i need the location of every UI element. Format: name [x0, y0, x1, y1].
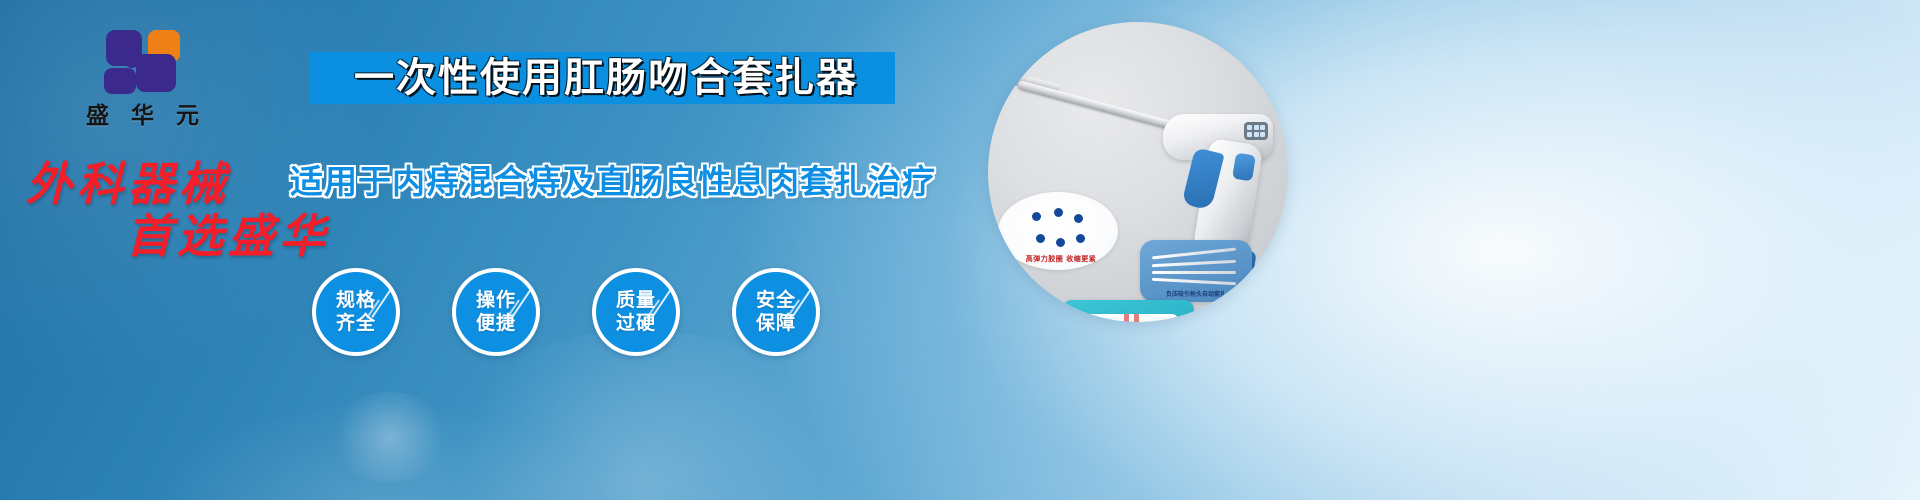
background-bubble	[330, 392, 450, 482]
feature-badge-1[interactable]: 规格 齐全	[312, 268, 400, 356]
feature-line-2: 便捷	[476, 312, 516, 335]
logo-block-3	[136, 54, 176, 92]
company-logo[interactable]: 盛 华 元	[66, 28, 226, 128]
feature-badge-label: 操作 便捷	[456, 272, 536, 352]
logo-block-4	[104, 68, 136, 94]
feature-badge-label: 质量 过硬	[596, 272, 676, 352]
feature-badges: 规格 齐全 操作 便捷 质量 过硬 安全 保障	[312, 268, 872, 364]
promo-banner: 盛 华 元 外科器械 首选盛华 一次性使用肛肠吻合套扎器 适用于内痔混合痔及直肠…	[0, 0, 1920, 500]
inset-needles-caption: 负压吸引枪头自动套扎	[1140, 289, 1252, 298]
feature-badge-label: 安全 保障	[736, 272, 816, 352]
feature-badge-label: 规格 齐全	[316, 272, 396, 352]
logo-block-connector	[124, 50, 140, 68]
page-title: 一次性使用肛肠吻合套扎器	[326, 54, 886, 102]
device-control-panel	[1244, 122, 1268, 140]
feature-line-1: 安全	[756, 289, 796, 312]
inset-disposable-tube	[1062, 300, 1194, 322]
feature-line-1: 规格	[336, 289, 376, 312]
logo-mark-icon	[96, 28, 194, 94]
feature-line-1: 操作	[476, 289, 516, 312]
product-photo: 高弹力胶圈 收缩更紧 负压吸引枪头自动套扎	[988, 22, 1288, 322]
feature-line-2: 齐全	[336, 312, 376, 335]
inset-rings-caption: 高弹力胶圈 收缩更紧	[1000, 254, 1122, 268]
feature-badge-3[interactable]: 质量 过硬	[592, 268, 680, 356]
feature-line-2: 过硬	[616, 312, 656, 335]
feature-line-1: 质量	[616, 289, 656, 312]
tube-band	[1134, 314, 1139, 322]
page-subtitle: 适用于内痔混合痔及直肠良性息肉套扎治疗	[290, 160, 910, 204]
device-barrel	[1017, 80, 1172, 130]
device-button	[1232, 153, 1256, 182]
feature-line-2: 保障	[756, 312, 796, 335]
inset-needles: 负压吸引枪头自动套扎	[1140, 240, 1252, 302]
tube-band	[1124, 314, 1129, 322]
feature-badge-2[interactable]: 操作 便捷	[452, 268, 540, 356]
company-name: 盛 华 元	[66, 96, 226, 130]
feature-badge-4[interactable]: 安全 保障	[732, 268, 820, 356]
slogan-line-2: 首选盛华	[126, 200, 330, 266]
